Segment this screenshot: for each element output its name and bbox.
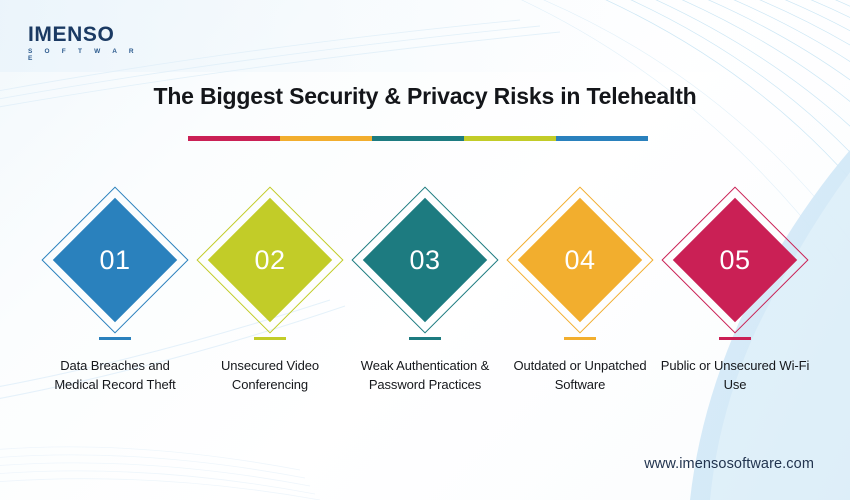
risk-caption: Weak Authentication & Password Practices [349,356,501,394]
accent-underline [254,337,286,340]
risk-caption: Public or Unsecured Wi-Fi Use [659,356,811,394]
accent-underline [719,337,751,340]
risk-card[interactable]: 04 Outdated or Unpatched Software [503,186,658,394]
risk-card[interactable]: 03 Weak Authentication & Password Practi… [348,186,503,394]
accent-underline [564,337,596,340]
diamond-badge: 03 [351,186,499,334]
risk-card-row: 01 Data Breaches and Medical Record Thef… [0,186,850,394]
divider-segment-5 [556,136,648,141]
page-title: The Biggest Security & Privacy Risks in … [0,83,850,111]
diamond-badge: 02 [196,186,344,334]
logo-tagline: S O F T W A R E [28,49,148,62]
risk-card[interactable]: 02 Unsecured Video Conferencing [193,186,348,394]
risk-card[interactable]: 01 Data Breaches and Medical Record Thef… [38,186,193,394]
risk-number: 02 [254,245,285,276]
brand-logo[interactable]: IMENSO S O F T W A R E [28,24,148,62]
divider-segment-2 [280,136,372,141]
divider-segment-1 [188,136,280,141]
divider-segment-4 [464,136,556,141]
risk-number: 04 [564,245,595,276]
risk-number: 01 [99,245,130,276]
risk-number: 05 [719,245,750,276]
risk-caption: Unsecured Video Conferencing [194,356,346,394]
accent-underline [409,337,441,340]
divider-segment-3 [372,136,464,141]
risk-caption: Data Breaches and Medical Record Theft [39,356,191,394]
risk-caption: Outdated or Unpatched Software [504,356,656,394]
diamond-badge: 01 [41,186,189,334]
risk-number: 03 [409,245,440,276]
infographic-canvas: IMENSO S O F T W A R E The Biggest Secur… [0,0,850,500]
accent-underline [99,337,131,340]
diamond-badge: 04 [506,186,654,334]
website-url[interactable]: www.imensosoftware.com [644,456,814,472]
risk-card[interactable]: 05 Public or Unsecured Wi-Fi Use [658,186,813,394]
diamond-badge: 05 [661,186,809,334]
logo-wordmark: IMENSO [28,24,148,45]
color-divider [188,136,648,141]
